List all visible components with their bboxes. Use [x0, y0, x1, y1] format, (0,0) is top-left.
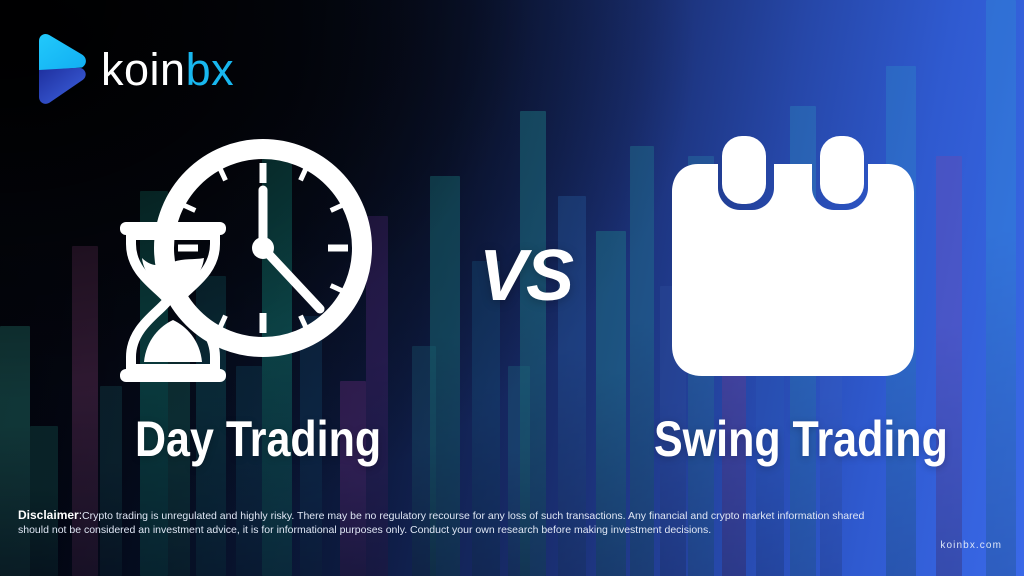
clock-minute-hand	[263, 248, 320, 309]
background-bar	[0, 326, 30, 576]
background-bar	[520, 111, 546, 576]
brand-word-koin: koin	[101, 44, 186, 95]
brand-wordmark: koinbx	[101, 47, 234, 92]
disclaimer-label: Disclaimer	[18, 508, 79, 522]
koinbx-play-logo-icon	[36, 33, 88, 105]
hourglass-icon	[118, 222, 228, 382]
day-trading-title: Day Trading	[135, 414, 381, 464]
disclaimer: Disclaimer:Crypto trading is unregulated…	[18, 508, 898, 537]
brand-logo[interactable]: koinbx	[36, 33, 234, 105]
swing-trading-title: Swing Trading	[654, 414, 948, 464]
background-bar	[30, 426, 58, 576]
calendar-icon	[668, 128, 918, 380]
background-bar	[986, 0, 1016, 576]
background-bar	[100, 386, 122, 576]
background-bar	[236, 366, 262, 576]
vs-label: VS	[466, 240, 586, 312]
brand-word-bx: bx	[186, 44, 235, 95]
promo-graphic: koinbx VS	[0, 0, 1024, 576]
website-url[interactable]: koinbx.com	[940, 540, 1002, 551]
disclaimer-text: Crypto trading is unregulated and highly…	[18, 510, 864, 536]
background-bar	[936, 156, 962, 576]
